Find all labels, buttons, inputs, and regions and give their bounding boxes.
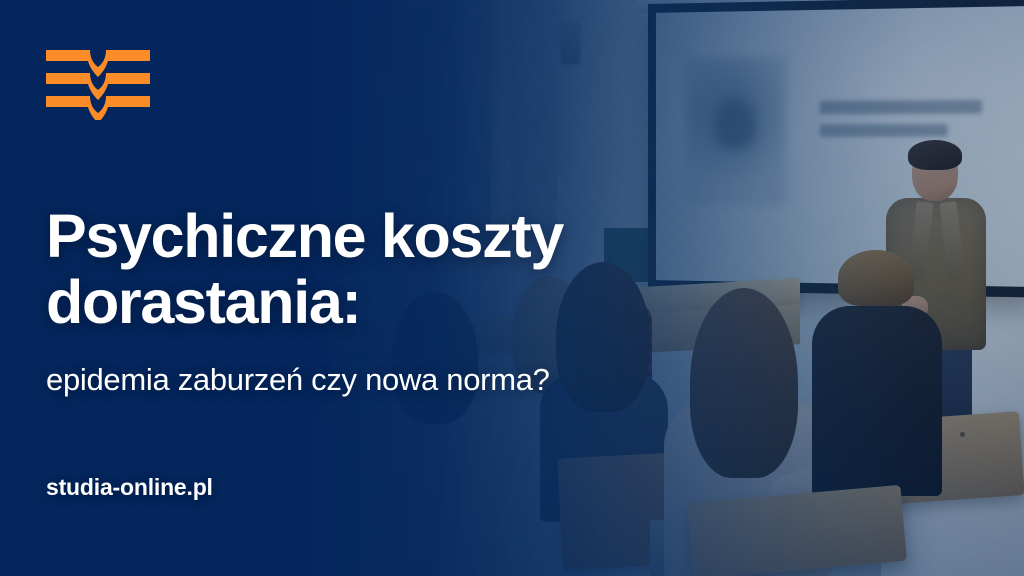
site-brand[interactable]: studia-online.pl	[46, 474, 213, 501]
promo-banner: Psychiczne koszty dorastania: epidemia z…	[0, 0, 1024, 576]
page-title: Psychiczne koszty dorastania:	[46, 203, 746, 336]
page-title-line-1: Psychiczne koszty	[46, 203, 746, 269]
banner-content: Psychiczne koszty dorastania: epidemia z…	[0, 0, 1024, 576]
page-subtitle: epidemia zaburzeń czy nowa norma?	[46, 362, 550, 398]
page-title-line-2: dorastania:	[46, 269, 746, 335]
studia-online-book-logo-icon[interactable]	[46, 50, 150, 120]
